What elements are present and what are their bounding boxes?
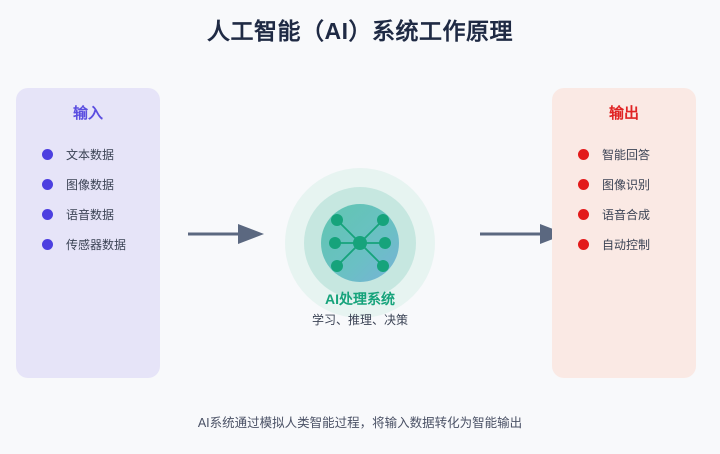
list-item: 文本数据 bbox=[16, 139, 160, 169]
bullet-dot-icon bbox=[42, 179, 53, 190]
list-item-label: 自动控制 bbox=[602, 236, 650, 253]
input-item-list: 文本数据 图像数据 语音数据 传感器数据 bbox=[16, 139, 160, 259]
list-item: 语音合成 bbox=[552, 199, 696, 229]
list-item: 自动控制 bbox=[552, 229, 696, 259]
list-item-label: 传感器数据 bbox=[66, 236, 126, 253]
neural-network-icon bbox=[323, 206, 397, 280]
list-item-label: 文本数据 bbox=[66, 146, 114, 163]
list-item-label: 智能回答 bbox=[602, 146, 650, 163]
bullet-dot-icon bbox=[42, 239, 53, 250]
bullet-dot-icon bbox=[42, 149, 53, 160]
bullet-dot-icon bbox=[578, 209, 589, 220]
bullet-dot-icon bbox=[578, 149, 589, 160]
input-to-core-arrow bbox=[188, 222, 266, 251]
list-item: 传感器数据 bbox=[16, 229, 160, 259]
diagram-caption: AI系统通过模拟人类智能过程，将输入数据转化为智能输出 bbox=[0, 412, 720, 431]
list-item: 智能回答 bbox=[552, 139, 696, 169]
list-item-label: 图像识别 bbox=[602, 176, 650, 193]
output-panel: 输出 智能回答 图像识别 语音合成 自动控制 bbox=[552, 88, 696, 378]
diagram-root: 人工智能（AI）系统工作原理 输入 文本数据 图像数据 语音数据 传感器数据 bbox=[0, 0, 720, 454]
list-item-label: 语音数据 bbox=[66, 206, 114, 223]
list-item: 图像识别 bbox=[552, 169, 696, 199]
page-title: 人工智能（AI）系统工作原理 bbox=[0, 12, 720, 46]
core-title: AI处理系统 bbox=[260, 289, 460, 309]
list-item: 语音数据 bbox=[16, 199, 160, 229]
output-item-list: 智能回答 图像识别 语音合成 自动控制 bbox=[552, 139, 696, 259]
core-subtitle: 学习、推理、决策 bbox=[260, 311, 460, 328]
list-item-label: 语音合成 bbox=[602, 206, 650, 223]
bullet-dot-icon bbox=[578, 239, 589, 250]
list-item: 图像数据 bbox=[16, 169, 160, 199]
list-item-label: 图像数据 bbox=[66, 176, 114, 193]
input-panel-heading: 输入 bbox=[16, 102, 160, 123]
input-panel: 输入 文本数据 图像数据 语音数据 传感器数据 bbox=[16, 88, 160, 378]
output-panel-heading: 输出 bbox=[552, 102, 696, 123]
bullet-dot-icon bbox=[42, 209, 53, 220]
bullet-dot-icon bbox=[578, 179, 589, 190]
